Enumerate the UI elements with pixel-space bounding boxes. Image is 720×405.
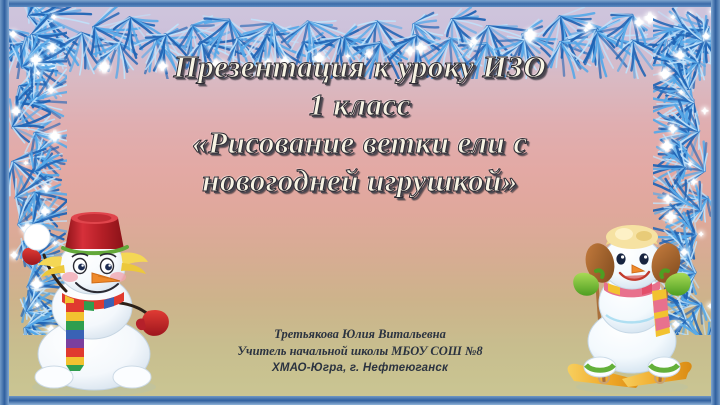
fir-sprig [656,5,714,79]
fir-sprig [5,68,51,137]
fir-sprig [5,92,67,175]
sparkle-icon [699,105,711,117]
fir-sprig [653,121,715,211]
fir-sprig [5,116,59,208]
sparkle-icon [672,47,688,63]
presentation-slide: Презентация к уроку ИЗО 1 класс «Рисован… [0,0,720,405]
fir-sprig [5,29,61,106]
credit-author-name: Третьякова Юлия Витальевна [110,326,610,343]
fir-sprig [653,85,715,177]
sparkle-icon [583,20,595,32]
fir-sprig [653,5,715,69]
fir-sprig [5,5,67,83]
sparkle-icon [582,26,590,34]
credit-location: ХМАО-Югра, г. Нефтеюганск [110,360,610,377]
fir-sprig [653,95,715,172]
slide-title: Презентация к уроку ИЗО 1 класс «Рисован… [60,48,660,200]
fir-sprig [656,5,715,25]
sparkle-icon [468,35,480,47]
title-line-2: 1 класс [60,86,660,124]
fir-sprig [5,85,56,171]
title-line-1: Презентация к уроку ИЗО [60,48,660,86]
fir-sprig [597,5,667,50]
fir-sprig [5,55,67,147]
fir-sprig [5,5,67,73]
sparkle-icon [8,103,24,119]
sparkle-icon [43,59,59,75]
sparkle-icon [40,183,52,195]
frame-edge-right [711,0,720,405]
fir-sprig [660,24,715,100]
sparkle-icon [34,69,42,77]
fir-sprig [658,67,715,137]
sparkle-icon [686,160,694,168]
title-line-4: новогодней игрушкой» [60,162,660,200]
sparkle-icon [50,13,58,21]
sparkle-icon [700,30,712,42]
fir-sprig [654,53,715,124]
fir-sprig [5,124,67,189]
fir-sprig [5,5,67,48]
fir-sprig [6,5,39,61]
fir-sprig [654,117,715,181]
fir-sprig [664,130,715,211]
fir-sprig [653,21,715,113]
frame-edge-top [0,0,720,7]
author-credit: Третьякова Юлия Витальевна Учитель начал… [110,326,610,377]
fir-sprig [5,58,48,115]
fir-sprig [6,5,68,79]
sparkle-icon [669,13,677,21]
sparkle-icon [522,30,538,46]
sparkle-icon [640,8,660,28]
sparkle-icon [7,28,19,40]
sparkle-icon [26,50,46,70]
sparkle-icon [44,40,60,56]
sparkle-icon [631,14,647,30]
sparkle-icon [706,302,714,310]
sparkle-icon [686,10,694,18]
credit-position-school: Учитель начальной школы МБОУ СОШ №8 [110,343,610,360]
sparkle-icon [660,191,676,207]
title-line-3: «Рисование ветки ели с [60,124,660,162]
sparkle-icon [707,6,714,18]
fir-sprig [653,54,715,146]
fir-sprig [663,5,715,72]
fir-sprig [673,5,714,63]
sparkle-icon [665,121,681,137]
sparkle-icon [520,24,540,44]
fir-sprig [5,19,67,109]
sparkle-icon [22,159,30,167]
sparkle-icon [677,88,685,96]
fir-sprig [5,142,65,203]
sparkle-icon [688,176,700,188]
frame-edge-bottom [0,396,720,405]
sparkle-icon [38,60,50,72]
fir-sprig [417,5,486,54]
fir-sprig [5,5,58,45]
fir-sprig [671,8,715,73]
sparkle-icon [45,84,57,96]
